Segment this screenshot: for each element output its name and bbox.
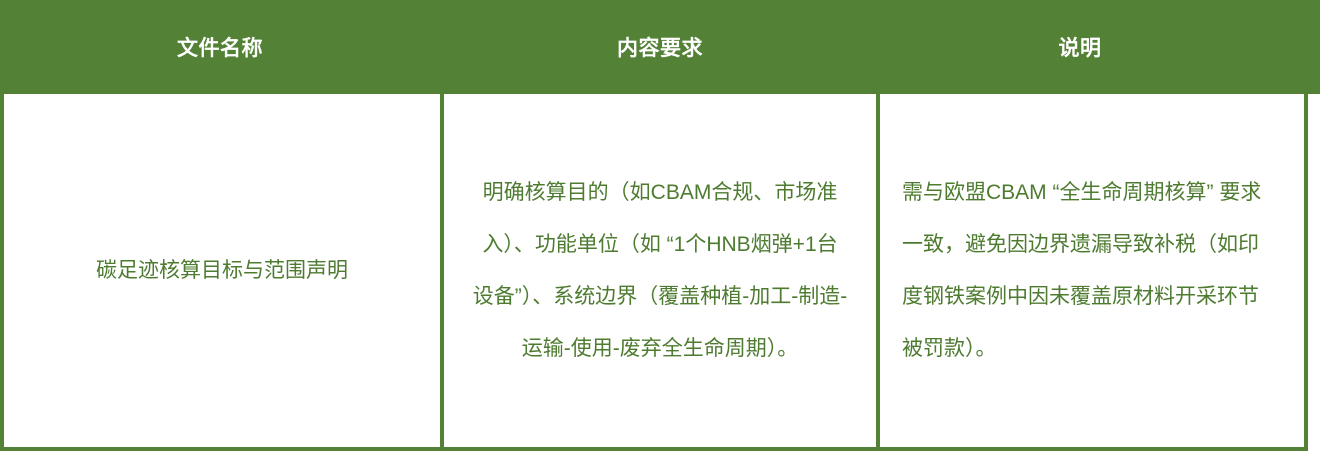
column-header-content-requirement: 内容要求 xyxy=(440,0,880,94)
column-header-description: 说明 xyxy=(880,0,1320,94)
column-header-file-name: 文件名称 xyxy=(0,0,440,94)
cell-file-name: 碳足迹核算目标与范围声明 xyxy=(4,94,440,447)
cell-file-name-text: 碳足迹核算目标与范围声明 xyxy=(18,245,426,297)
cell-description: 需与欧盟CBAM “全生命周期核算” 要求一致，避免因边界遗漏导致补税（如印度钢… xyxy=(880,94,1300,447)
cell-content-requirement: 明确核算目的（如CBAM合规、市场准入）、功能单位（如 “1个HNB烟弹+1台设… xyxy=(440,94,880,447)
table-row: 碳足迹核算目标与范围声明 明确核算目的（如CBAM合规、市场准入）、功能单位（如… xyxy=(0,94,1308,451)
cell-content-requirement-text: 明确核算目的（如CBAM合规、市场准入）、功能单位（如 “1个HNB烟弹+1台设… xyxy=(472,167,848,375)
table-header-row: 文件名称 内容要求 说明 xyxy=(0,0,1320,94)
cell-description-text: 需与欧盟CBAM “全生命周期核算” 要求一致，避免因边界遗漏导致补税（如印度钢… xyxy=(902,167,1274,375)
requirements-table: 文件名称 内容要求 说明 碳足迹核算目标与范围声明 明确核算目的（如CBAM合规… xyxy=(0,0,1320,455)
